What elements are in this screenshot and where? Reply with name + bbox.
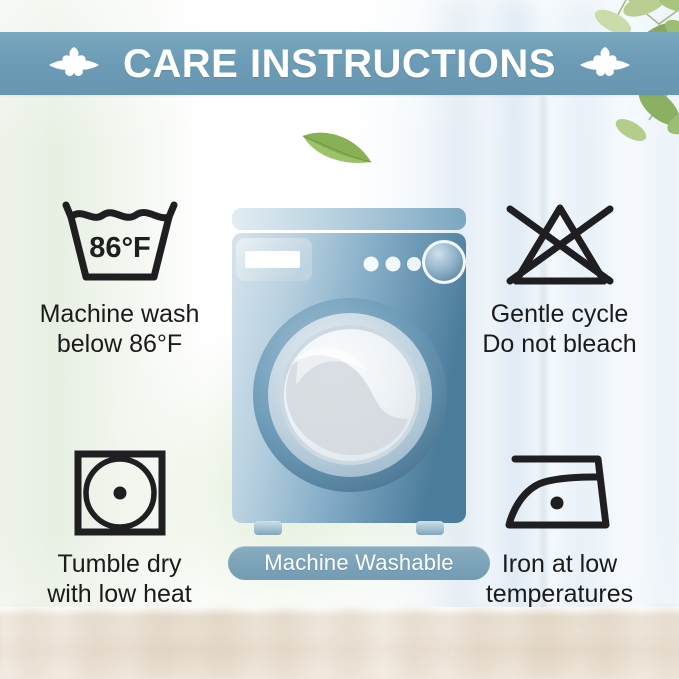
tumble-dry-dot <box>113 487 126 500</box>
iron-icon-wrap <box>452 443 667 543</box>
care-symbol-iron: Iron at low temperatures <box>452 443 667 609</box>
page-title: CARE INSTRUCTIONS <box>123 44 556 84</box>
fleur-de-lis-icon <box>578 43 632 85</box>
badge-label: Machine Washable <box>264 552 453 574</box>
triangle-crossed-icon-wrap <box>452 193 667 293</box>
care-label-do-not-bleach: Gentle cycle Do not bleach <box>452 299 667 359</box>
care-symbol-tumble-dry: Tumble dry with low heat <box>12 443 227 609</box>
care-symbol-do-not-bleach: Gentle cycle Do not bleach <box>452 193 667 359</box>
banner: CARE INSTRUCTIONS <box>0 32 679 95</box>
wash-temperature-value: 86°F <box>89 232 151 264</box>
care-label-tumble-dry: Tumble dry with low heat <box>12 549 227 609</box>
washer-lid <box>232 208 466 230</box>
washer-foot <box>254 521 282 535</box>
wash-tub-icon-wrap: 86°F <box>12 193 227 293</box>
control-button[interactable] <box>407 257 421 271</box>
washing-machine-illustration <box>226 205 472 541</box>
control-knob[interactable] <box>425 243 463 281</box>
control-button[interactable] <box>364 257 379 272</box>
triangle-crossed-icon <box>501 195 619 291</box>
iron-dot <box>550 497 563 510</box>
tumble-dry-icon-wrap <box>12 443 227 543</box>
care-symbol-machine-wash: 86°F Machine wash below 86°F <box>12 193 227 359</box>
background-table-grain <box>0 607 679 679</box>
machine-washable-badge: Machine Washable <box>228 546 490 580</box>
detergent-drawer-slot <box>245 251 300 268</box>
fleur-de-lis-icon <box>47 43 101 85</box>
care-label-machine-wash: Machine wash below 86°F <box>12 299 227 359</box>
wash-tub-icon: 86°F <box>58 195 182 291</box>
washer-foot <box>416 521 444 535</box>
control-button[interactable] <box>386 257 401 272</box>
care-instructions-card: CARE INSTRUCTIONS 86°F Machine wash belo… <box>0 0 679 679</box>
iron-icon <box>499 447 621 539</box>
floating-leaf-icon <box>300 124 374 168</box>
tumble-dry-icon <box>70 445 170 541</box>
